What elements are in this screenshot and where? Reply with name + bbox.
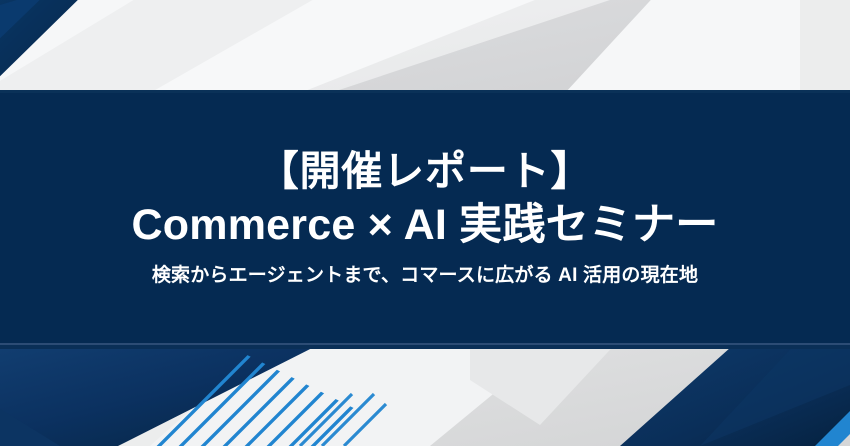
page-title-line-2: Commerce × AI 実践セミナー bbox=[132, 201, 719, 250]
page-subtitle: 検索からエージェントまで、コマースに広がる AI 活用の現在地 bbox=[152, 264, 698, 289]
bottom-band-top-rule bbox=[0, 345, 850, 349]
top-geometric-decoration bbox=[0, 0, 850, 93]
bottom-decoration-shapes bbox=[0, 345, 850, 446]
bottom-geometric-decoration bbox=[0, 345, 850, 446]
title-band: 【開催レポート】 Commerce × AI 実践セミナー 検索からエージェント… bbox=[0, 93, 850, 345]
top-edge-band bbox=[800, 0, 850, 93]
top-decoration-shapes bbox=[0, 0, 850, 93]
page-title-line-1: 【開催レポート】 bbox=[258, 149, 593, 195]
seminar-report-banner: 【開催レポート】 Commerce × AI 実践セミナー 検索からエージェント… bbox=[0, 0, 850, 446]
